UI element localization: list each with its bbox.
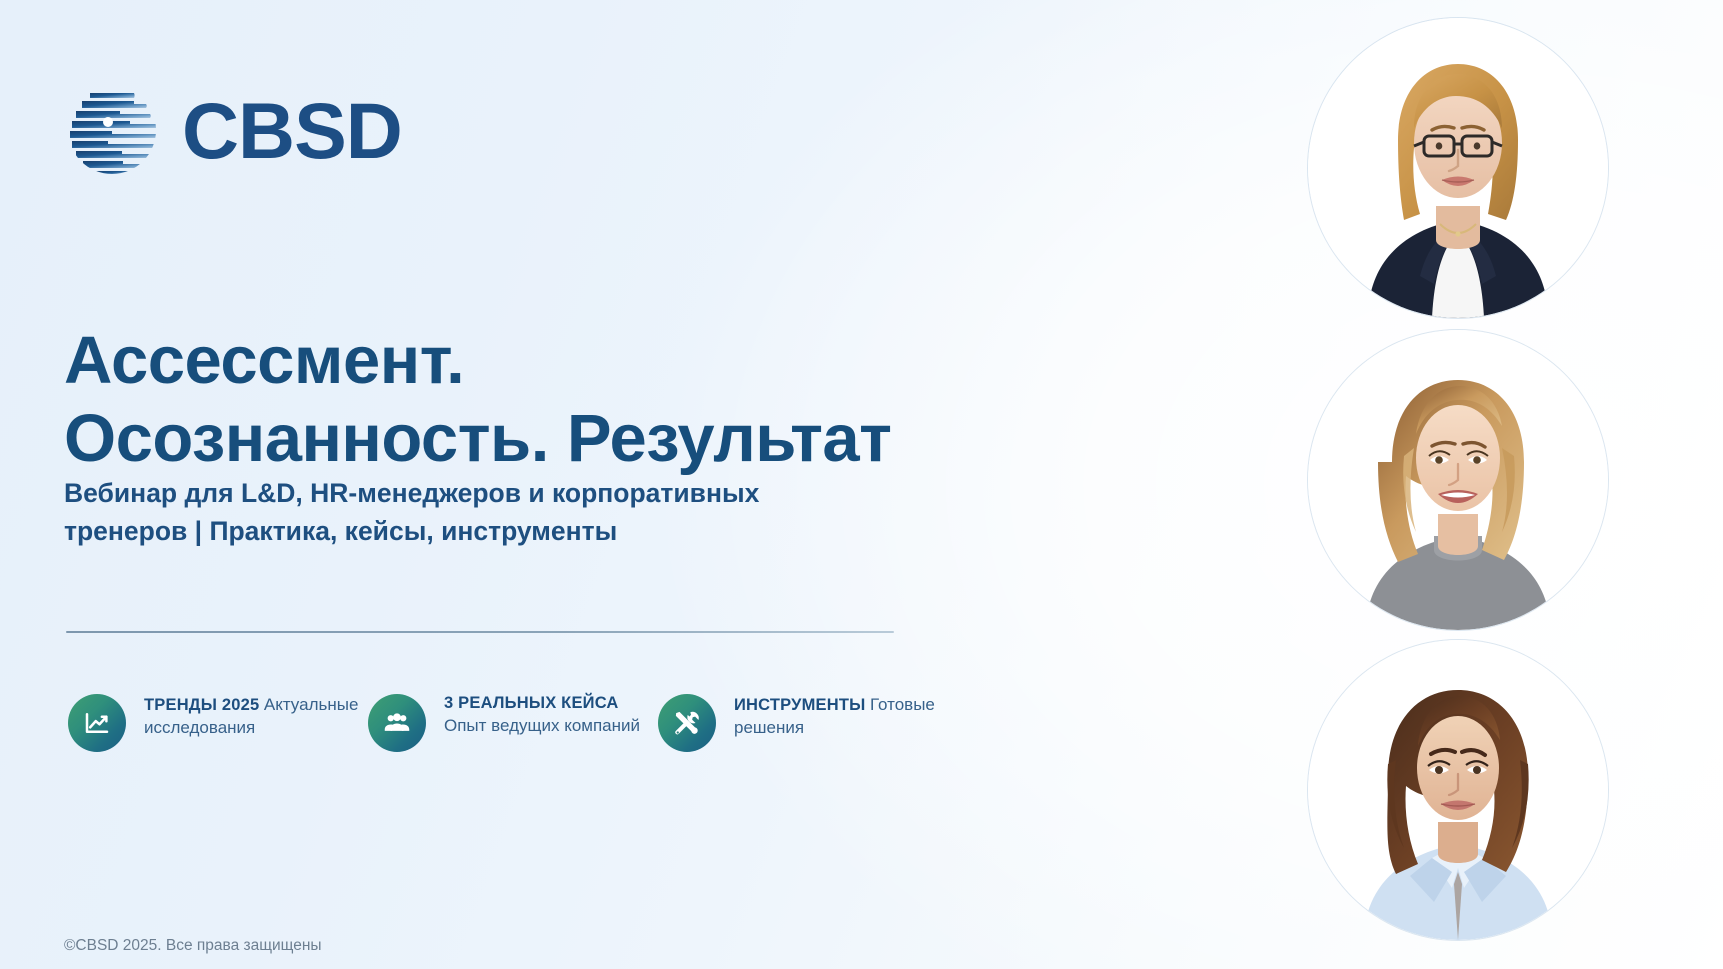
- subtitle-line-2: тренеров | Практика, кейсы, инструменты: [64, 513, 904, 551]
- feature-title: 3 РЕАЛЬНЫХ КЕЙСА: [444, 694, 619, 712]
- avatar: [1308, 640, 1608, 940]
- avatar: [1308, 18, 1608, 318]
- feature-badge-list: ТРЕНДЫ 2025 Актуальные исследования: [68, 692, 958, 752]
- feature-badge-trends: ТРЕНДЫ 2025 Актуальные исследования: [68, 692, 368, 752]
- feature-title: ИНСТРУМЕНТЫ: [734, 696, 866, 714]
- title-line-1: Ассессмент.: [64, 322, 1074, 400]
- speaker-portrait-1: [1308, 18, 1608, 318]
- title-line-2: Осознанность. Результат: [64, 400, 1074, 478]
- speaker-photo-stack: [1103, 0, 1723, 969]
- feature-badge-cases: 3 РЕАЛЬНЫХ КЕЙСА Опыт ведущих компаний: [368, 692, 658, 752]
- cbsd-globe-logo-icon: [64, 82, 160, 178]
- page-title: Ассессмент. Осознанность. Результат: [64, 322, 1074, 477]
- feature-description: Опыт ведущих компаний: [444, 716, 640, 735]
- webinar-title-slide: CBSD Ассессмент. Осознанность. Результат…: [0, 0, 1723, 969]
- section-divider: [66, 631, 894, 633]
- subtitle-line-1: Вебинар для L&D, HR-менеджеров и корпора…: [64, 475, 904, 513]
- speaker-portrait-3: [1308, 640, 1608, 940]
- chart-line-icon: [68, 694, 126, 752]
- speaker-portrait-2: [1308, 330, 1608, 630]
- brand-logo: CBSD: [64, 82, 402, 178]
- tools-icon: [658, 694, 716, 752]
- feature-badge-tools: ИНСТРУМЕНТЫ Готовые решения: [658, 692, 958, 752]
- feature-title: ТРЕНДЫ 2025: [144, 696, 259, 714]
- left-content-column: CBSD Ассессмент. Осознанность. Результат…: [64, 0, 1104, 969]
- brand-name: CBSD: [182, 91, 402, 170]
- copyright-notice: ©CBSD 2025. Все права защищены: [64, 937, 322, 955]
- people-group-icon: [368, 694, 426, 752]
- avatar: [1308, 330, 1608, 630]
- page-subtitle: Вебинар для L&D, HR-менеджеров и корпора…: [64, 475, 904, 550]
